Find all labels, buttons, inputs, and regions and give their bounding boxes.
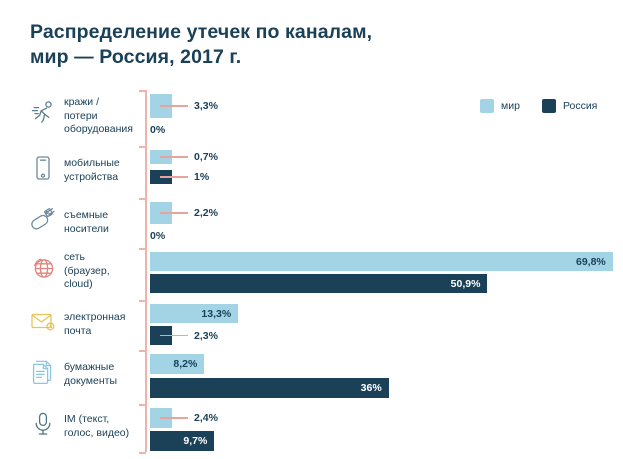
bar-value-label: 9,7% xyxy=(183,435,214,447)
category-label: сеть (браузер, cloud) xyxy=(64,251,144,292)
value-callout: 2,2% xyxy=(160,207,218,219)
category-label: электронная почта xyxy=(64,311,144,338)
bar-value-label: 13,3% xyxy=(201,308,238,320)
bar-value-label: 50,9% xyxy=(451,278,488,290)
chart-row: IM (текст, голос, видео)2,4%9,7% xyxy=(0,404,623,452)
bar-value-label: 36% xyxy=(361,382,389,394)
bar-russia: 36% xyxy=(150,378,389,398)
bar-russia: 9,7% xyxy=(150,431,214,451)
paper-document-icon xyxy=(30,358,56,386)
bar-value-label: 3,3% xyxy=(194,100,218,112)
value-callout: 0,7% xyxy=(160,151,218,163)
chart-container: Распределение утечек по каналам, мир — Р… xyxy=(0,0,623,459)
running-thief-icon xyxy=(26,98,60,126)
paper-document-icon xyxy=(26,358,60,386)
mobile-device-icon xyxy=(30,154,56,182)
bar-value-label: 8,2% xyxy=(173,358,204,370)
globe-network-icon xyxy=(26,254,60,282)
microphone-icon xyxy=(26,410,60,438)
mobile-device-icon xyxy=(26,154,60,182)
bar-world: 2,4% xyxy=(150,408,172,428)
bar-russia: 1% xyxy=(150,170,172,184)
callout-leader-line xyxy=(160,212,188,214)
bar-value-zero: 0% xyxy=(150,124,165,136)
chart-row: мобильные устройства0,7%1% xyxy=(0,146,623,196)
axis-tick xyxy=(139,452,146,454)
category-label: бумажные документы xyxy=(64,361,144,388)
bar-value-zero: 0% xyxy=(150,230,165,242)
callout-leader-line xyxy=(160,176,188,178)
bar-world: 2,2% xyxy=(150,202,172,224)
bar-world: 69,8% xyxy=(150,252,613,271)
page-title: Распределение утечек по каналам, мир — Р… xyxy=(30,20,372,70)
chart-row: съемные носители2,2%0% xyxy=(0,198,623,248)
envelope-email-icon xyxy=(28,308,58,334)
usb-drive-icon xyxy=(28,205,58,231)
callout-leader-line xyxy=(160,105,188,107)
bar-value-label: 2,4% xyxy=(194,412,218,424)
category-label: кражи / потери оборудования xyxy=(64,96,144,137)
category-label: съемные носители xyxy=(64,209,144,236)
bar-russia: 2,3% xyxy=(150,326,172,345)
running-thief-icon xyxy=(29,98,57,126)
plot-area: кражи / потери оборудования3,3%0%мобильн… xyxy=(0,88,623,454)
bar-world: 8,2% xyxy=(150,354,204,374)
bar-russia: 50,9% xyxy=(150,274,487,293)
bar-value-label: 1% xyxy=(194,171,209,183)
bar-world: 0,7% xyxy=(150,150,172,164)
category-label: мобильные устройства xyxy=(64,157,144,184)
globe-network-icon xyxy=(29,254,57,282)
usb-drive-icon xyxy=(26,205,60,231)
bar-world: 3,3% xyxy=(150,94,172,118)
bar-value-label: 2,2% xyxy=(194,207,218,219)
chart-row: сеть (браузер, cloud)69,8%50,9% xyxy=(0,248,623,298)
bar-value-label: 69,8% xyxy=(576,256,613,268)
bar-value-label: 0,7% xyxy=(194,151,218,163)
bar-world: 13,3% xyxy=(150,304,238,323)
chart-row: бумажные документы8,2%36% xyxy=(0,350,623,402)
value-callout: 2,4% xyxy=(160,412,218,424)
category-label: IM (текст, голос, видео) xyxy=(64,413,144,440)
callout-leader-line xyxy=(160,156,188,158)
value-callout: 1% xyxy=(160,171,209,183)
callout-leader-line xyxy=(160,417,188,419)
microphone-icon xyxy=(30,410,56,438)
envelope-email-icon xyxy=(26,308,60,334)
chart-row: кражи / потери оборудования3,3%0% xyxy=(0,90,623,144)
bar-value-label: 2,3% xyxy=(194,330,218,342)
value-callout: 2,3% xyxy=(160,330,218,342)
chart-row: электронная почта13,3%2,3% xyxy=(0,300,623,350)
callout-leader-line xyxy=(160,335,188,337)
value-callout: 3,3% xyxy=(160,100,218,112)
